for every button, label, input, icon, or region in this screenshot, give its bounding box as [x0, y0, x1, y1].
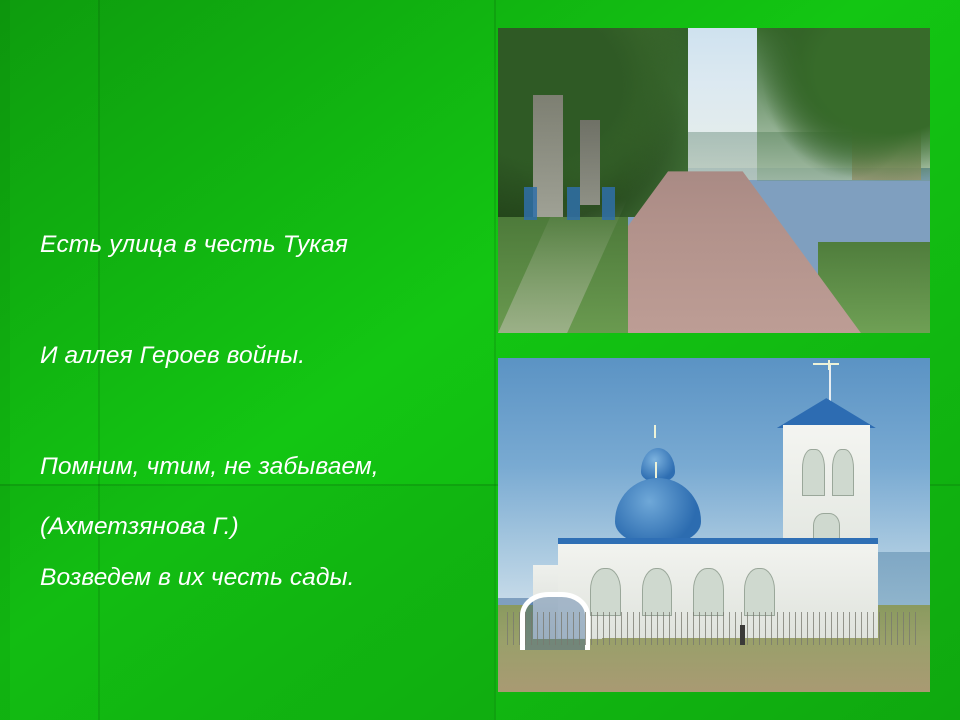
poem-line: Возведем в их честь сады. — [40, 559, 480, 596]
alley-stand-1 — [524, 187, 537, 221]
church-photo — [498, 358, 930, 692]
alley-photo — [498, 28, 930, 333]
church-window-3 — [693, 568, 724, 617]
alley-trees-right — [757, 28, 930, 181]
church-cross-dome-small — [654, 425, 656, 438]
poem-line: И аллея Героев войны. — [40, 337, 480, 374]
poem-line: Есть улица в честь Тукая — [40, 226, 480, 263]
church-tower-window-1 — [802, 449, 825, 496]
church-window-4 — [744, 568, 775, 617]
church-tower-spire — [829, 365, 831, 402]
church-fence — [507, 612, 922, 645]
church-cross-dome-main — [655, 462, 657, 479]
church-window-2 — [642, 568, 673, 617]
alley-monument-2 — [580, 120, 599, 205]
poem-text: Есть улица в честь Тукая И аллея Героев … — [40, 78, 480, 720]
poem-line: Помним, чтим, не забываем, — [40, 448, 480, 485]
alley-stand-2 — [567, 187, 580, 221]
slide: Есть улица в честь Тукая И аллея Героев … — [0, 0, 960, 720]
church-tower-window-2 — [832, 449, 855, 496]
church-window-1 — [590, 568, 621, 617]
alley-monument-1 — [533, 95, 563, 217]
alley-stand-3 — [602, 187, 615, 221]
bg-band-mid — [494, 0, 496, 720]
church-cross-tower-bar — [813, 363, 839, 365]
poem-stanza-1: Есть улица в честь Тукая И аллея Героев … — [40, 152, 480, 670]
church-person — [740, 625, 745, 645]
poem-author: (Ахметзянова Г.) — [40, 508, 239, 545]
